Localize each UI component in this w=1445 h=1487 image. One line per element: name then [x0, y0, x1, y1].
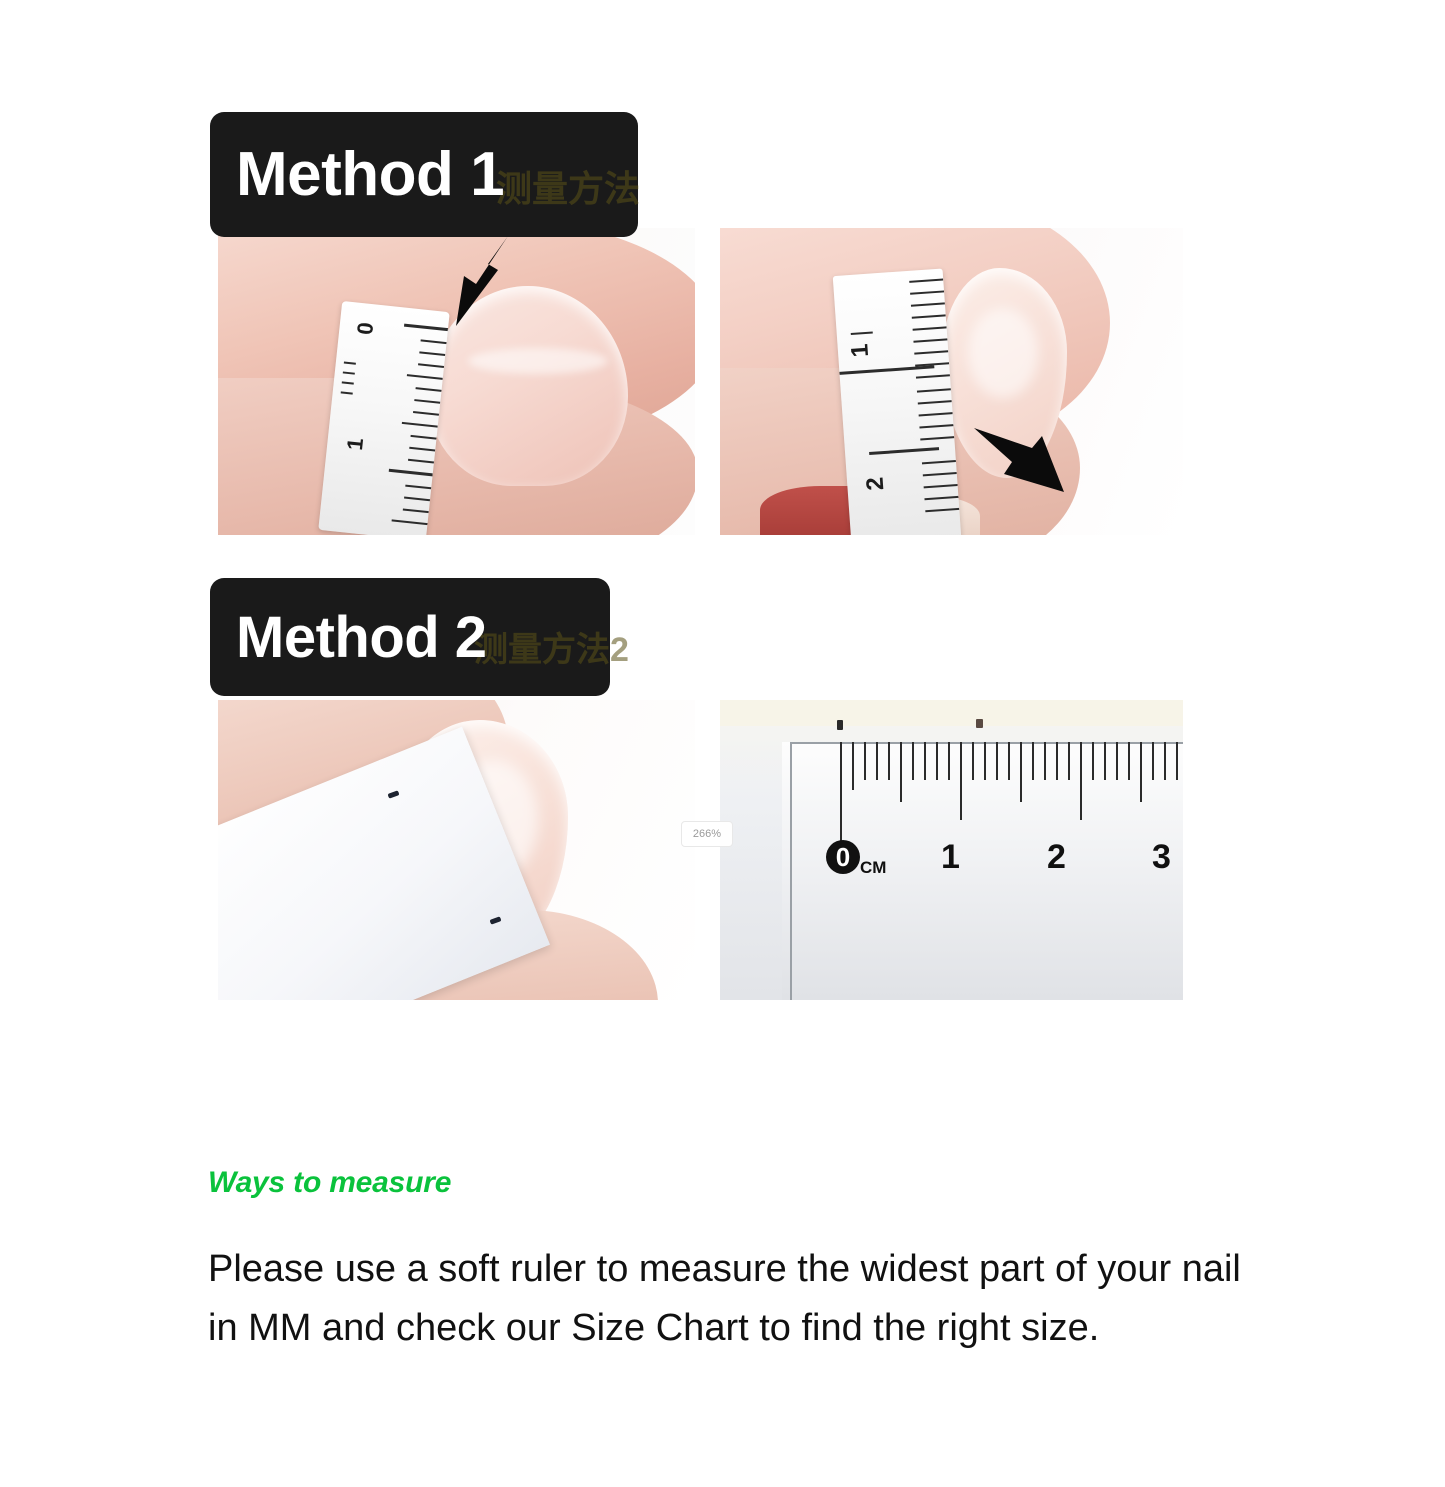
- method-1-label: Method 1: [236, 139, 504, 210]
- ruler-ticks: [790, 742, 1183, 852]
- ways-to-measure-heading: Ways to measure: [208, 1166, 451, 1200]
- tape-number-2: 2: [862, 476, 891, 491]
- method-2-ghost-label: 测量方法2: [474, 622, 629, 671]
- method-1-panel-2-photo: 1 2: [720, 228, 1183, 535]
- transferred-mark-2: [976, 719, 983, 728]
- method-1-ghost-label: 测量方法: [496, 160, 640, 212]
- pointer-arrow-icon: [968, 418, 1078, 508]
- zoom-level-indicator[interactable]: 266%: [681, 821, 733, 847]
- tape-number-1: 1: [846, 343, 875, 358]
- transferred-mark-1: [837, 720, 843, 730]
- ruler-number-3: 3: [1152, 838, 1171, 877]
- method-1-badge: 测量方法 Method 1: [210, 112, 638, 237]
- measure-instructions-paragraph: Please use a soft ruler to measure the w…: [208, 1240, 1243, 1358]
- method-2-panel-1-photo: [218, 700, 695, 1000]
- pointer-arrow-icon: [430, 230, 520, 340]
- ruler-number-2: 2: [1047, 838, 1066, 877]
- method-1-panel-1-photo: 0 1: [218, 228, 695, 535]
- method-2-panel-2-photo: 0 CM 1 2 3: [720, 700, 1183, 1000]
- tape-ticks: 1 2: [833, 268, 962, 535]
- method-2-badge: 测量方法2 Method 2: [210, 578, 610, 696]
- ruler-number-1: 1: [941, 838, 960, 877]
- ruler-unit-label: CM: [860, 858, 886, 878]
- tape-number-1: 1: [342, 437, 369, 452]
- ruler-zero-marker: 0: [826, 840, 860, 874]
- method-2-label: Method 2: [236, 604, 487, 671]
- tape-number-0: 0: [352, 321, 379, 336]
